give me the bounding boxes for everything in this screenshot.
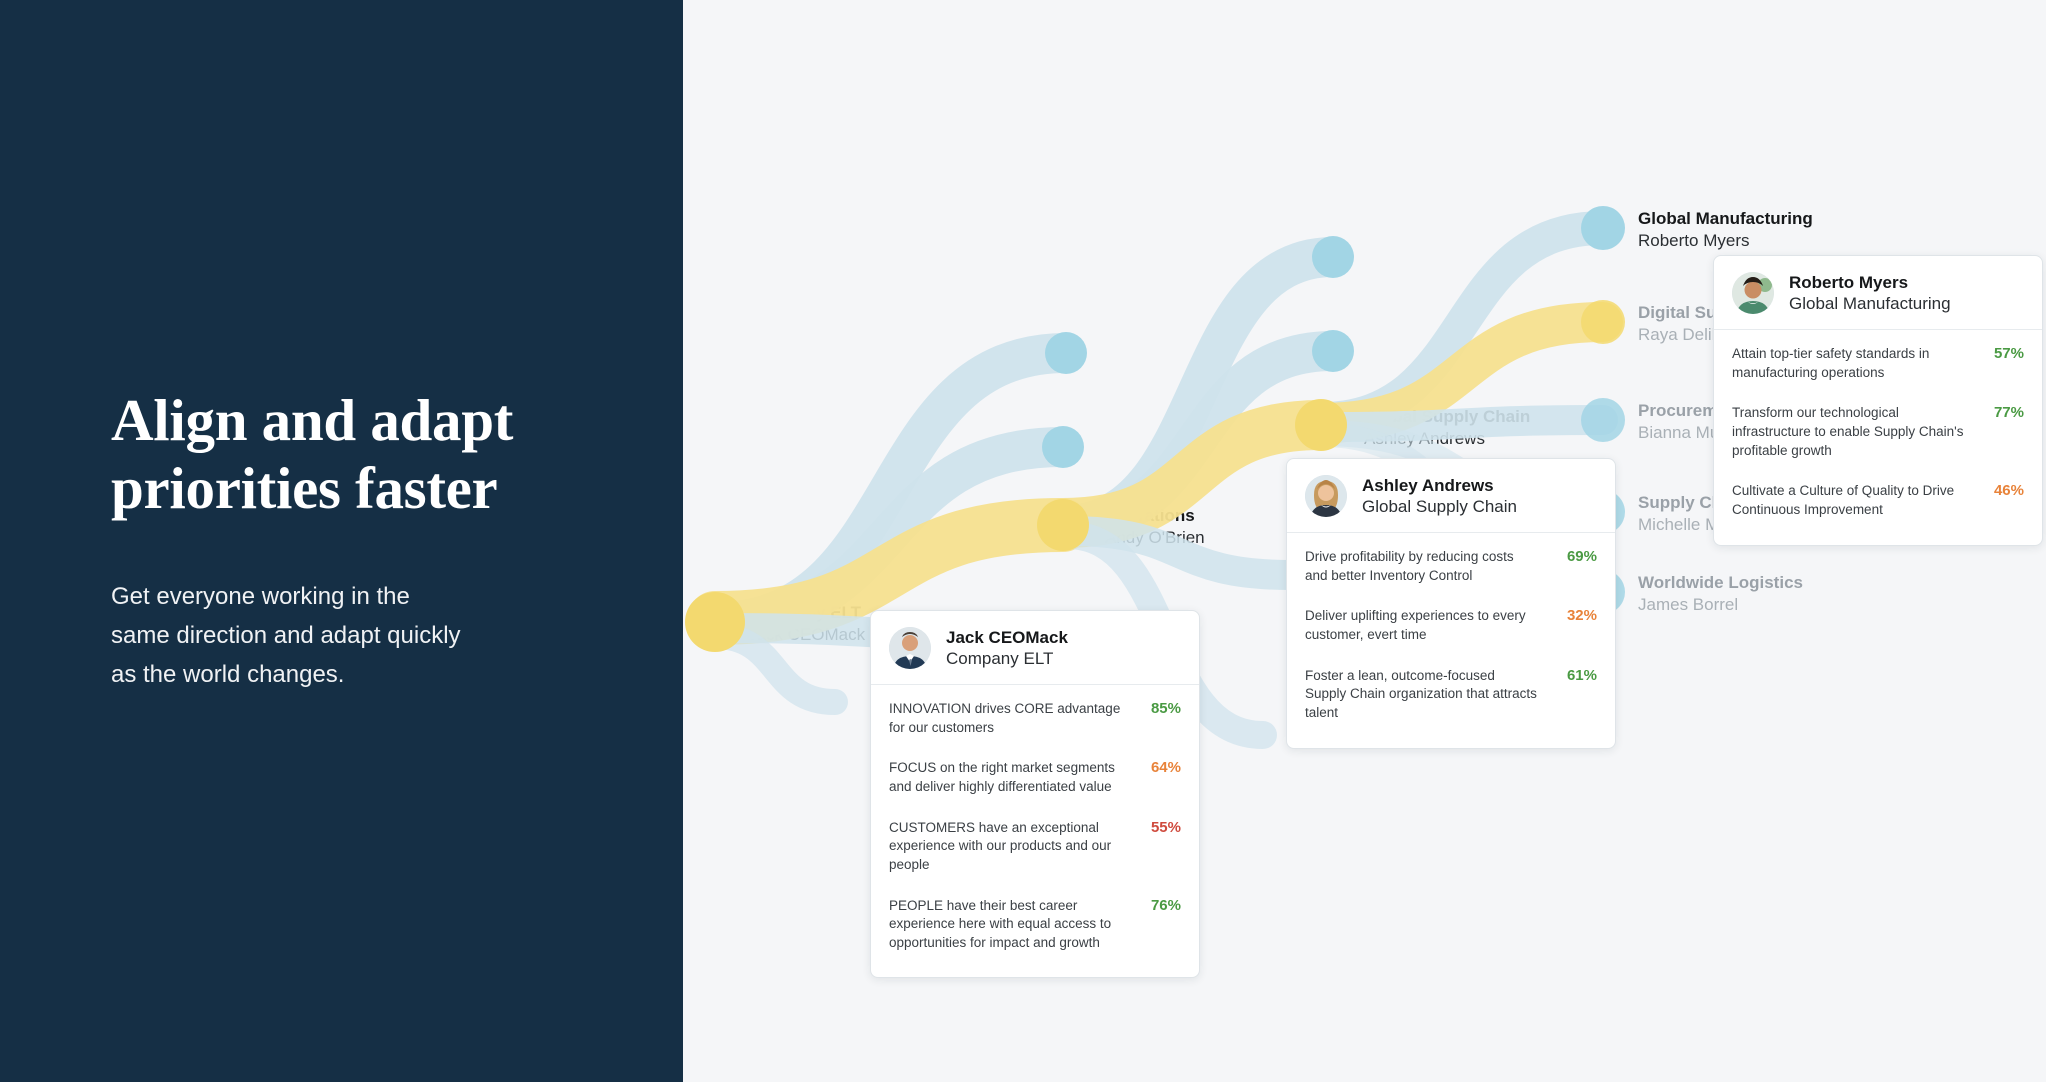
goal-row[interactable]: Deliver uplifting experiences to every c… [1305, 596, 1597, 655]
flow-node-global-supply-chain[interactable] [1295, 399, 1347, 451]
goal-text: Attain top-tier safety standards in manu… [1732, 345, 1964, 382]
flow-node-company-elt[interactable] [685, 592, 745, 652]
flow-node-branch-b[interactable] [1042, 426, 1084, 468]
hero-subcopy: Get everyone working in the same directi… [111, 578, 471, 695]
goal-list: Attain top-tier safety standards in manu… [1714, 330, 2042, 544]
goal-text: Cultivate a Culture of Quality to Drive … [1732, 482, 1964, 519]
profile-name: Jack CEOMack [946, 627, 1068, 648]
goal-row[interactable]: PEOPLE have their best career experience… [889, 886, 1181, 964]
flow-node-branch-d[interactable] [1312, 330, 1354, 372]
goal-percentage: 57% [1978, 345, 2024, 363]
goal-percentage: 46% [1978, 482, 2024, 500]
flow-node-global-manufacturing[interactable] [1581, 206, 1625, 250]
goal-percentage: 76% [1135, 897, 1181, 915]
goal-percentage: 61% [1551, 667, 1597, 685]
goal-row[interactable]: Drive profitability by reducing costs an… [1305, 537, 1597, 596]
flow-node-procurement[interactable] [1581, 398, 1625, 442]
profile-card-jack[interactable]: Jack CEOMack Company ELT INNOVATION driv… [870, 610, 1200, 978]
goal-text: FOCUS on the right market segments and d… [889, 759, 1121, 796]
profile-card-ashley[interactable]: Ashley Andrews Global Supply Chain Drive… [1286, 458, 1616, 749]
profile-card-header: Ashley Andrews Global Supply Chain [1287, 459, 1615, 533]
flow-node-branch-a[interactable] [1045, 332, 1087, 374]
avatar-jack-icon [889, 627, 931, 669]
goal-list: INNOVATION drives CORE advantage for our… [871, 685, 1199, 977]
page-root: Align and adapt priorities faster Get ev… [0, 0, 2046, 1082]
goal-text: Deliver uplifting experiences to every c… [1305, 607, 1537, 644]
profile-card-header: Roberto Myers Global Manufacturing [1714, 256, 2042, 330]
avatar-ashley-icon [1305, 475, 1347, 517]
goal-text: PEOPLE have their best career experience… [889, 897, 1121, 953]
profile-name: Roberto Myers [1789, 272, 1951, 293]
flow-node-branch-c[interactable] [1312, 236, 1354, 278]
goal-row[interactable]: Attain top-tier safety standards in manu… [1732, 334, 2024, 393]
goal-text: Drive profitability by reducing costs an… [1305, 548, 1537, 585]
goal-row[interactable]: CUSTOMERS have an exceptional experience… [889, 808, 1181, 886]
goal-percentage: 64% [1135, 759, 1181, 777]
profile-card-roberto[interactable]: Roberto Myers Global Manufacturing Attai… [1713, 255, 2043, 546]
goal-percentage: 85% [1135, 700, 1181, 718]
profile-name: Ashley Andrews [1362, 475, 1517, 496]
profile-card-identity: Ashley Andrews Global Supply Chain [1362, 475, 1517, 517]
goal-text: Foster a lean, outcome-focused Supply Ch… [1305, 667, 1537, 723]
goal-list: Drive profitability by reducing costs an… [1287, 533, 1615, 747]
alignment-map-canvas[interactable]: Company ELTJack CEOMackOperationsAndy O'… [683, 0, 2046, 1082]
goal-text: CUSTOMERS have an exceptional experience… [889, 819, 1121, 875]
goal-percentage: 55% [1135, 819, 1181, 837]
profile-role: Company ELT [946, 648, 1068, 669]
profile-role: Global Manufacturing [1789, 293, 1951, 314]
goal-text: Transform our technological infrastructu… [1732, 404, 1964, 460]
goal-text: INNOVATION drives CORE advantage for our… [889, 700, 1121, 737]
avatar-roberto-icon [1732, 272, 1774, 314]
flow-node-digital-supply[interactable] [1581, 300, 1625, 344]
profile-card-identity: Jack CEOMack Company ELT [946, 627, 1068, 669]
page-title: Align and adapt priorities faster [111, 386, 631, 523]
goal-percentage: 77% [1978, 404, 2024, 422]
goal-row[interactable]: Foster a lean, outcome-focused Supply Ch… [1305, 656, 1597, 734]
goal-row[interactable]: Cultivate a Culture of Quality to Drive … [1732, 471, 2024, 530]
profile-card-header: Jack CEOMack Company ELT [871, 611, 1199, 685]
goal-row[interactable]: FOCUS on the right market segments and d… [889, 748, 1181, 807]
goal-percentage: 32% [1551, 607, 1597, 625]
flow-node-operations[interactable] [1037, 499, 1089, 551]
hero-panel: Align and adapt priorities faster Get ev… [0, 0, 683, 1082]
profile-card-identity: Roberto Myers Global Manufacturing [1789, 272, 1951, 314]
goal-row[interactable]: INNOVATION drives CORE advantage for our… [889, 689, 1181, 748]
goal-row[interactable]: Transform our technological infrastructu… [1732, 393, 2024, 471]
profile-role: Global Supply Chain [1362, 496, 1517, 517]
goal-percentage: 69% [1551, 548, 1597, 566]
